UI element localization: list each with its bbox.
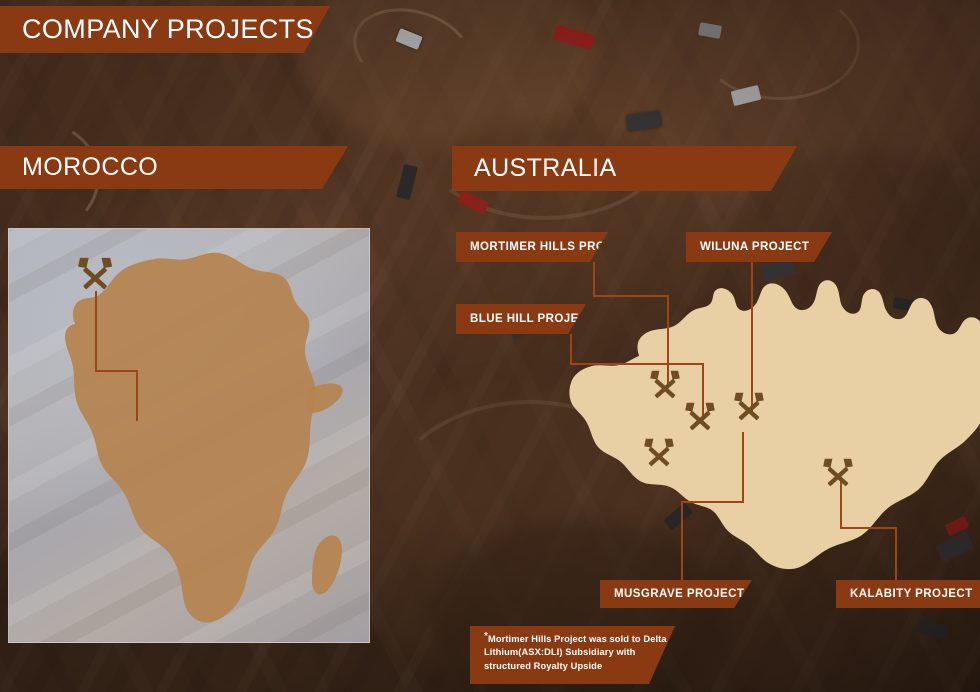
project-label-text: MUSGRAVE PROJECT [614, 588, 744, 600]
footnote-marker: * [484, 631, 488, 642]
project-label-blue-hill[interactable]: BLUE HILL PROJECT [456, 304, 586, 334]
australia-map-silhouette [569, 280, 980, 569]
project-label-wiluna[interactable]: WILUNA PROJECT [686, 232, 832, 262]
project-label-kalabity[interactable]: KALABITY PROJECT [836, 580, 980, 608]
footnote-banner: *Mortimer Hills Project was sold to Delt… [470, 626, 675, 684]
infographic-slide: COMPANY PROJECTS MOROCCO AUSTRALIA [0, 0, 980, 692]
project-label-musgrave[interactable]: MUSGRAVE PROJECT [600, 580, 752, 608]
project-label-mortimer-hills[interactable]: MORTIMER HILLS PROJECT* [456, 232, 608, 262]
project-label-text: KALABITY PROJECT [850, 588, 973, 600]
australia-map-layer [0, 0, 980, 692]
footnote-line3: structured Royalty Upside [484, 661, 602, 671]
footnote-line2: Lithium(ASX:DLI) Subsidiary with [484, 647, 635, 657]
project-label-text: WILUNA PROJECT [700, 241, 809, 253]
footnote-line1: Mortimer Hills Project was sold to Delta [488, 634, 667, 644]
